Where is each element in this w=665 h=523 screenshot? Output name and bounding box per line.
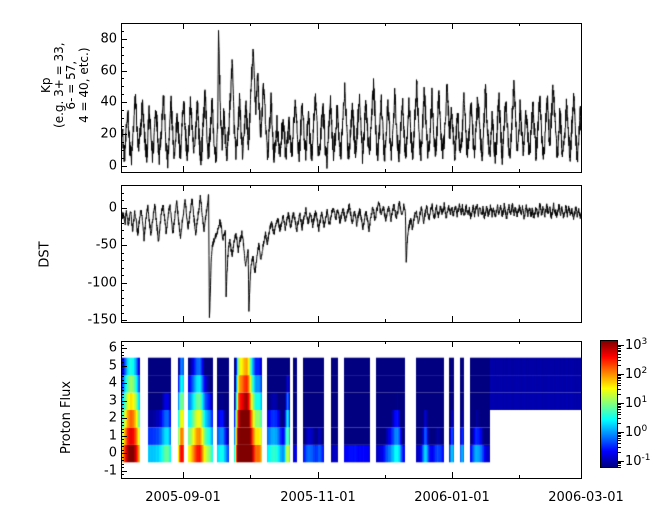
kp-axis-title-line: 6- = 57, [65,15,78,155]
x-tick-major [318,185,319,191]
y-tick-minor [121,193,124,194]
y-tick-minor [121,253,124,254]
colorbar-tick-minor [617,463,621,464]
panel-proton-flux [121,341,582,479]
x-tick-minor [519,185,520,188]
x-tick-major [318,316,319,322]
colorbar-tick-minor [617,360,621,361]
colorbar-tick-minor [617,447,621,448]
x-tick-major [452,23,453,29]
y-tick-label: 0 [77,446,117,461]
y-tick-minor [121,305,124,306]
y-tick-major [121,401,127,402]
colorbar-tick-label: 102 [625,366,647,382]
y-tick-major [121,453,127,454]
y-tick-major [121,366,127,367]
y-tick-minor [121,78,124,79]
panel-kp [121,23,582,173]
x-tick-major [183,472,184,478]
y-tick-major [121,436,127,437]
y-tick-minor [121,110,124,111]
y-tick-minor [121,432,124,433]
y-tick-minor [121,352,124,353]
x-tick-minor [250,341,251,344]
colorbar-tick-minor [617,438,621,439]
x-tick-minor [250,169,251,172]
colorbar-tick-minor [617,423,621,424]
y-tick-major [121,39,127,40]
y-tick-label: 1 [77,429,117,444]
x-tick-minor [385,341,386,344]
colorbar-tick-minor [617,350,621,351]
colorbar-tick-minor [617,436,621,437]
y-tick-minor [121,460,124,461]
y-tick-minor [121,31,124,32]
y-tick-minor [121,290,124,291]
kp-axis-title: Kp(e.g. 3+ = 33,6- = 57,4 = 40, etc.) [40,15,90,155]
x-tick-major [318,472,319,478]
y-tick-minor [121,478,124,479]
x-tick-minor [519,23,520,26]
y-tick-label: 0 [77,201,117,216]
x-tick-major [318,166,319,172]
y-tick-minor [121,450,124,451]
y-tick-minor [121,373,124,374]
y-tick-major [121,166,127,167]
y-tick-minor [121,387,124,388]
y-tick-minor [121,376,124,377]
x-tick-minor [250,23,251,26]
y-tick-label: 2 [77,411,117,426]
colorbar-tick-label: 103 [625,337,647,353]
y-tick-minor [121,55,124,56]
y-tick-minor [121,355,124,356]
colorbar-tick-minor [617,462,621,463]
y-tick-minor [121,215,124,216]
colorbar-tick-minor [617,433,621,434]
y-tick-major [121,102,127,103]
colorbar-tick-minor [617,452,621,453]
y-tick-minor [121,94,124,95]
y-tick-minor [121,408,124,409]
x-tick-minor [250,475,251,478]
y-tick-minor [121,359,124,360]
y-tick-minor [121,415,124,416]
x-tick-minor [519,475,520,478]
colorbar-tick-minor [617,375,621,376]
y-tick-minor [121,47,124,48]
colorbar-tick-minor [617,378,621,379]
kp-timeseries-plot [122,24,581,172]
colorbar-tick-minor [617,377,621,378]
colorbar-tick-minor [617,467,621,468]
y-tick-major [121,320,127,321]
x-tick-major [452,166,453,172]
colorbar-tick-label: 10-1 [625,453,651,469]
y-tick-minor [121,380,124,381]
x-tick-minor [250,319,251,322]
colorbar-tick-minor [617,414,621,415]
colorbar-tick-minor [617,406,621,407]
y-tick-minor [121,223,124,224]
dst-timeseries-plot [122,186,581,322]
colorbar-tick-minor [617,348,621,349]
x-tick-minor [385,475,386,478]
y-tick-minor [121,23,124,24]
y-tick-major [121,71,127,72]
y-tick-minor [121,425,124,426]
x-tick-minor [385,23,386,26]
y-tick-minor [121,63,124,64]
y-tick-minor [121,369,124,370]
colorbar-tick-minor [617,394,621,395]
y-tick-major [121,134,127,135]
y-tick-minor [121,230,124,231]
colorbar-tick-minor [617,418,621,419]
colorbar-tick-minor [617,354,621,355]
proton-flux-axis-title: Proton Flux [59,381,74,454]
y-tick-label: -150 [77,313,117,328]
colorbar-tick-label: 101 [625,395,647,411]
y-tick-minor [121,464,124,465]
x-tick-major [183,341,184,347]
x-tick-minor [385,169,386,172]
dst-axis-title: DST [38,241,53,267]
colorbar [600,340,618,468]
y-tick-minor [121,467,124,468]
y-tick-minor [121,260,124,261]
y-tick-minor [121,390,124,391]
y-tick-major [121,245,127,246]
x-tick-minor [519,169,520,172]
y-tick-minor [121,446,124,447]
x-tick-major [452,341,453,347]
colorbar-tick-minor [617,380,621,381]
x-tick-major [318,23,319,29]
x-tick-label: 2005-11-01 [280,490,356,505]
y-tick-minor [121,126,124,127]
colorbar-tick-minor [617,346,621,347]
y-tick-minor [121,394,124,395]
y-tick-minor [121,397,124,398]
colorbar-tick-minor [617,365,621,366]
colorbar-tick-label: 100 [625,424,647,440]
x-tick-major [452,472,453,478]
colorbar-tick-minor [617,440,621,441]
y-tick-minor [121,238,124,239]
y-tick-major [121,283,127,284]
y-tick-minor [121,158,124,159]
y-tick-label: 0 [77,159,117,174]
x-tick-major [452,185,453,191]
y-tick-minor [121,429,124,430]
y-tick-minor [121,404,124,405]
figure-canvas: 020406080 Kp(e.g. 3+ = 33,6- = 57,4 = 40… [0,0,665,523]
x-tick-minor [519,341,520,344]
y-tick-minor [121,362,124,363]
y-tick-minor [121,474,124,475]
y-tick-major [121,383,127,384]
y-tick-minor [121,185,124,186]
x-tick-major [183,185,184,191]
y-tick-major [121,418,127,419]
y-tick-label: 4 [77,376,117,391]
y-tick-label: 5 [77,359,117,374]
y-tick-minor [121,118,124,119]
colorbar-tick-minor [617,465,621,466]
y-tick-minor [121,275,124,276]
x-tick-major [183,23,184,29]
y-tick-minor [121,86,124,87]
kp-axis-title-line: 4 = 40, etc.) [78,15,91,155]
y-tick-minor [121,142,124,143]
colorbar-tick-minor [617,383,621,384]
colorbar-tick-minor [617,407,621,408]
colorbar-tick-minor [617,389,621,390]
y-tick-major [121,471,127,472]
x-tick-minor [519,319,520,322]
y-tick-minor [121,200,124,201]
colorbar-tick-minor [617,351,621,352]
y-tick-label: 3 [77,394,117,409]
kp-axis-title-line: Kp [40,15,53,155]
y-tick-minor [121,341,124,342]
x-tick-major [183,166,184,172]
colorbar-tick-minor [617,409,621,410]
y-tick-label: -50 [77,238,117,253]
y-tick-minor [121,443,124,444]
y-tick-minor [121,457,124,458]
y-tick-minor [121,268,124,269]
x-tick-minor [250,185,251,188]
y-tick-minor [121,345,124,346]
colorbar-tick-minor [617,385,621,386]
colorbar-tick-minor [617,443,621,444]
x-tick-major [183,316,184,322]
proton-flux-spectrogram [122,342,581,478]
y-tick-label: -100 [77,276,117,291]
y-tick-minor [121,411,124,412]
x-tick-label: 2005-09-01 [145,490,221,505]
y-tick-major [121,208,127,209]
x-tick-minor [385,319,386,322]
y-tick-minor [121,150,124,151]
y-tick-minor [121,313,124,314]
x-tick-major [318,341,319,347]
x-tick-major [452,316,453,322]
x-tick-label: 2006-03-01 [548,490,624,505]
x-tick-label: 2006-01-01 [414,490,490,505]
y-tick-minor [121,298,124,299]
y-tick-major [121,348,127,349]
y-tick-label: 6 [77,341,117,356]
y-tick-minor [121,439,124,440]
x-tick-minor [385,185,386,188]
panel-dst [121,185,582,323]
colorbar-tick-minor [617,357,621,358]
y-tick-minor [121,422,124,423]
y-tick-label: -1 [77,464,117,479]
colorbar-tick-minor [617,412,621,413]
colorbar-tick-minor [617,404,621,405]
colorbar-tick-minor [617,435,621,436]
